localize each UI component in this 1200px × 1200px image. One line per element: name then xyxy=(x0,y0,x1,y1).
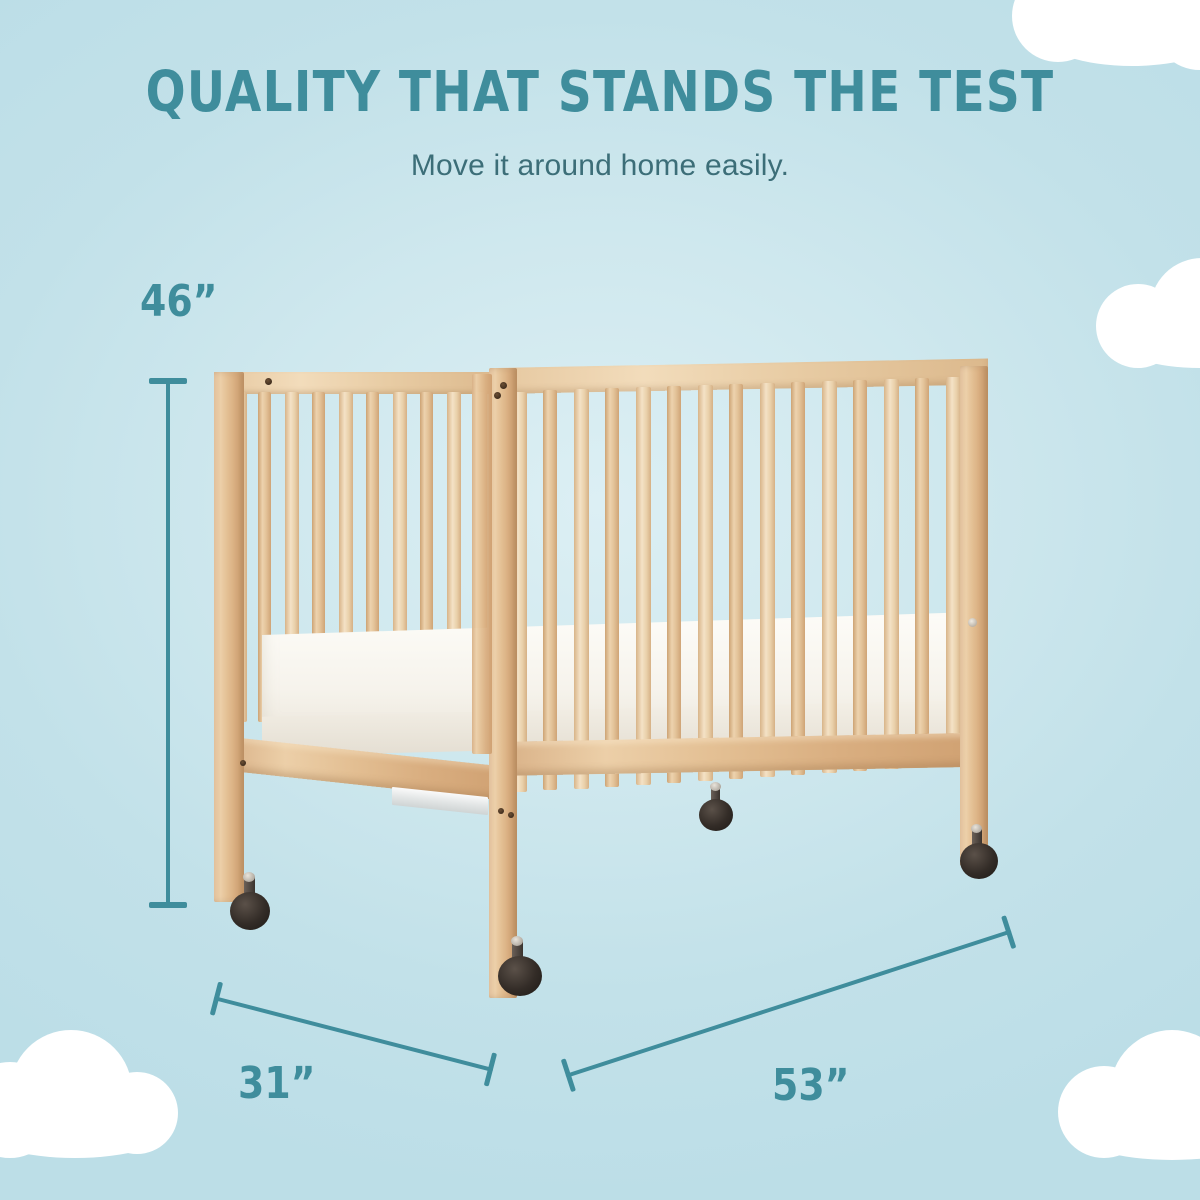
screw-hole-lower-center-2 xyxy=(508,812,514,818)
caster-wheel-rear-center xyxy=(696,786,748,838)
dimension-label-width: 53” xyxy=(772,1060,850,1111)
hardware-fitting-right xyxy=(968,618,977,627)
crib-post-rear-left xyxy=(472,374,492,754)
caster-wheel-far-right xyxy=(956,828,1012,884)
crib-post-center xyxy=(489,368,517,998)
caster-wheel-center-front xyxy=(494,940,556,1002)
screw-hole-rear-left xyxy=(500,382,507,389)
product-illustration xyxy=(0,0,1200,1200)
screw-hole-front-left xyxy=(265,378,272,385)
caster-wheel-front-left xyxy=(226,876,286,936)
screw-hole-center xyxy=(494,392,501,399)
dimension-label-depth: 31” xyxy=(238,1058,316,1109)
screw-hole-lower-left xyxy=(240,760,246,766)
crib-back-top-rail xyxy=(214,372,502,394)
screw-hole-lower-center xyxy=(498,808,504,814)
crib-post-front-left xyxy=(214,372,244,902)
crib-post-far-right xyxy=(960,366,988,866)
dimension-label-height: 46” xyxy=(140,276,218,327)
